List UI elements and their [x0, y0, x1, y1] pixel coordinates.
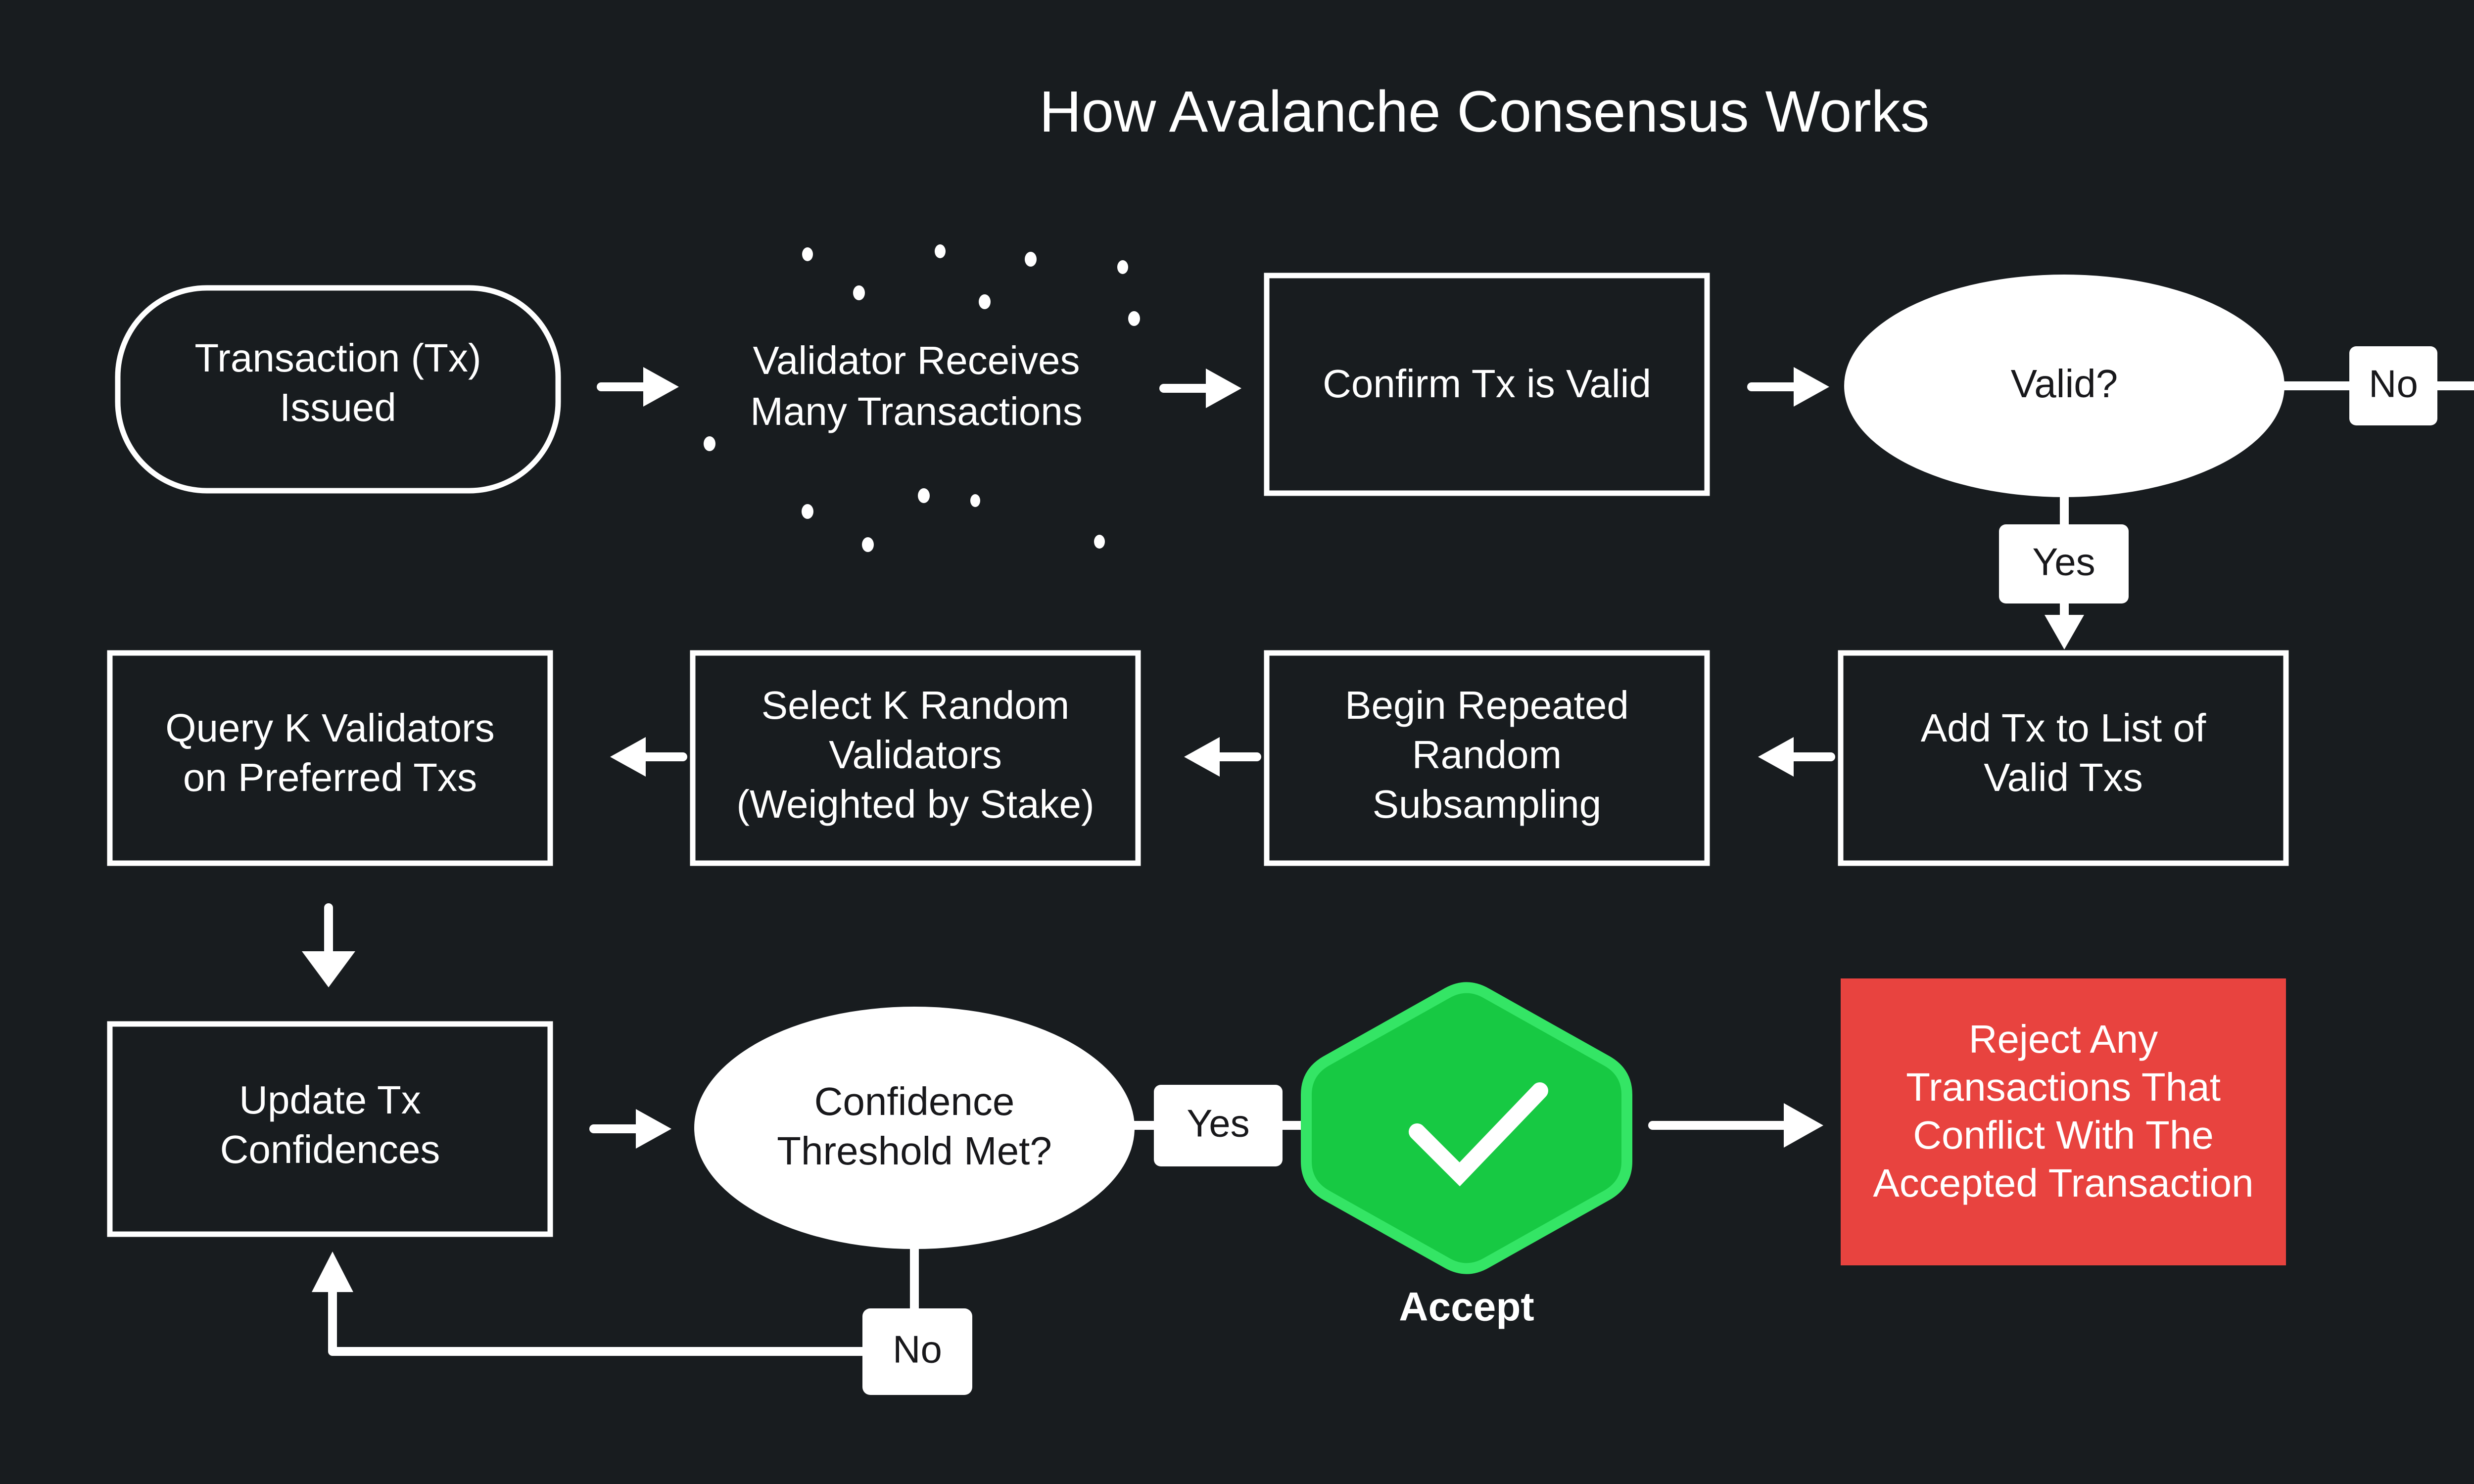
avalanche-consensus-flowchart: How Avalanche Consensus Works Transactio… — [0, 0, 2474, 1484]
confidence-decision-shape — [694, 1007, 1135, 1249]
node-begin-subsampling[interactable]: Begin Repeated Random Subsampling — [1267, 653, 1707, 863]
arrow-update-to-confidence — [594, 1109, 671, 1149]
arrow-query-to-update — [302, 908, 355, 987]
node-add-tx-to-list[interactable]: Add Tx to List of Valid Txs — [1841, 653, 2286, 863]
node-confidence-decision[interactable]: Confidence Threshold Met? — [694, 1007, 1135, 1249]
edge-label-valid-no: No — [2369, 362, 2418, 406]
arrow-validator-to-confirm — [1164, 369, 1241, 408]
select-validators-line-1: Select K Random — [761, 683, 1070, 727]
node-query-validators[interactable]: Query K Validators on Preferred Txs — [110, 653, 550, 863]
accept-shape — [1306, 988, 1627, 1269]
select-validators-line-3: (Weighted by Stake) — [736, 782, 1094, 826]
arrow-confirm-to-valid-decision — [1752, 367, 1829, 407]
valid-decision-label: Valid? — [2011, 362, 2118, 406]
node-reject-conflicts[interactable]: Reject Any Transactions That Conflict Wi… — [1841, 978, 2286, 1265]
edge-label-confidence-no: No — [893, 1328, 942, 1371]
update-confidences-line-1: Update Tx — [239, 1078, 421, 1122]
begin-subsampling-line-1: Begin Repeated — [1345, 683, 1629, 727]
edge-label-valid-yes: Yes — [2032, 540, 2095, 584]
validator-receives-line-2: Many Transactions — [750, 389, 1082, 433]
edge-valid-no: No — [2276, 346, 2474, 425]
edge-confidence-no-loop: No — [312, 1248, 972, 1395]
node-validator-receives[interactable]: Validator Receives Many Transactions — [704, 244, 1140, 552]
transaction-issued-line-1: Transaction (Tx) — [194, 336, 481, 380]
accept-caption: Accept — [1399, 1285, 1534, 1330]
edge-valid-yes: Yes — [1999, 497, 2129, 649]
validator-receives-line-1: Validator Receives — [753, 338, 1080, 382]
arrow-tx-to-validator — [601, 367, 679, 407]
reject-conflicts-line-2: Transactions That — [1906, 1065, 2221, 1109]
query-validators-line-2: on Preferred Txs — [183, 755, 477, 799]
edge-label-confidence-yes: Yes — [1187, 1102, 1249, 1145]
confirm-tx-valid-label: Confirm Tx is Valid — [1323, 362, 1651, 406]
node-confirm-tx-valid[interactable]: Confirm Tx is Valid — [1267, 276, 1707, 493]
begin-subsampling-line-3: Subsampling — [1373, 782, 1602, 826]
select-validators-line-2: Validators — [829, 733, 1002, 777]
query-validators-line-1: Query K Validators — [165, 706, 494, 750]
node-select-validators[interactable]: Select K Random Validators (Weighted by … — [693, 653, 1138, 863]
arrow-accept-to-reject — [1653, 1103, 1823, 1148]
begin-subsampling-line-2: Random — [1412, 733, 1562, 777]
confidence-decision-line-2: Threshold Met? — [777, 1129, 1052, 1173]
arrow-subsampling-to-select — [1184, 737, 1257, 777]
add-tx-to-list-line-2: Valid Txs — [1984, 755, 2143, 799]
page-title: How Avalanche Consensus Works — [1039, 79, 1929, 144]
arrow-add-to-subsampling — [1758, 737, 1831, 777]
diagram-canvas: How Avalanche Consensus Works Transactio… — [0, 0, 2474, 1484]
update-confidences-line-2: Confidences — [220, 1127, 440, 1171]
reject-conflicts-line-1: Reject Any — [1969, 1017, 2158, 1061]
reject-conflicts-line-3: Conflict With The — [1913, 1113, 2214, 1157]
reject-conflicts-line-4: Accepted Transaction — [1873, 1161, 2253, 1205]
node-update-confidences[interactable]: Update Tx Confidences — [110, 1024, 550, 1234]
transaction-issued-line-2: Issued — [280, 385, 396, 429]
confidence-decision-line-1: Confidence — [814, 1079, 1015, 1123]
node-valid-decision[interactable]: Valid? — [1844, 275, 2284, 497]
add-tx-to-list-line-1: Add Tx to List of — [1921, 706, 2206, 750]
node-accept[interactable]: Accept — [1306, 988, 1627, 1330]
node-transaction-issued[interactable]: Transaction (Tx) Issued — [118, 288, 558, 491]
arrow-select-to-query — [610, 737, 683, 777]
